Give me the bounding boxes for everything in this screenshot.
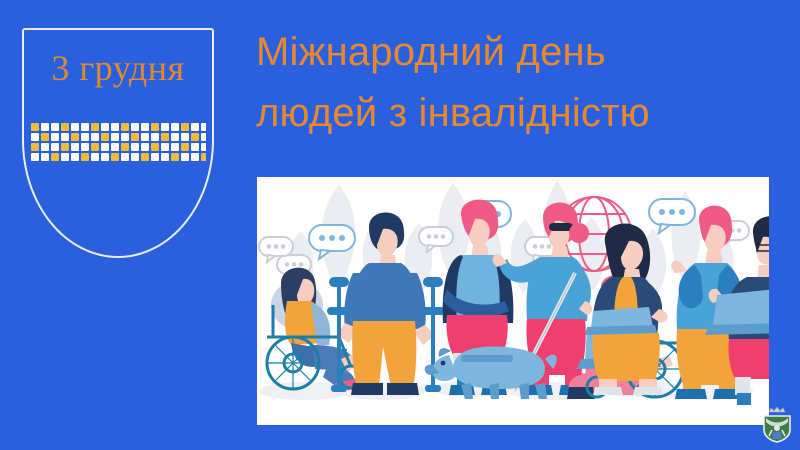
date-label: 3 грудня bbox=[24, 46, 212, 90]
bead bbox=[170, 142, 180, 152]
bead bbox=[200, 132, 206, 142]
bead bbox=[160, 152, 170, 162]
bead bbox=[30, 122, 40, 132]
bead-band-ornament bbox=[30, 122, 206, 162]
slide-canvas: 3 грудня Міжнародний день людей з інвалі… bbox=[0, 0, 800, 450]
bead bbox=[40, 152, 50, 162]
bead bbox=[110, 142, 120, 152]
bead bbox=[130, 132, 140, 142]
bead bbox=[60, 142, 70, 152]
bead bbox=[200, 122, 206, 132]
illustration-panel bbox=[257, 177, 769, 425]
bead bbox=[140, 132, 150, 142]
bead bbox=[30, 132, 40, 142]
bead bbox=[150, 142, 160, 152]
bead bbox=[120, 152, 130, 162]
bead bbox=[130, 142, 140, 152]
bead bbox=[100, 132, 110, 142]
illustration-canvas bbox=[257, 177, 769, 425]
bead bbox=[100, 122, 110, 132]
bead bbox=[70, 122, 80, 132]
bead bbox=[80, 132, 90, 142]
bead bbox=[110, 132, 120, 142]
bead bbox=[180, 142, 190, 152]
bead bbox=[140, 152, 150, 162]
bead bbox=[50, 152, 60, 162]
bead bbox=[140, 122, 150, 132]
coat-of-arms-svg bbox=[760, 406, 794, 444]
shield-badge: 3 грудня bbox=[22, 28, 214, 258]
bead bbox=[90, 152, 100, 162]
bead bbox=[170, 132, 180, 142]
bead bbox=[170, 152, 180, 162]
bead bbox=[150, 132, 160, 142]
bead bbox=[120, 122, 130, 132]
bead bbox=[190, 122, 200, 132]
coat-of-arms-emblem bbox=[760, 406, 794, 444]
bead bbox=[120, 142, 130, 152]
bead bbox=[120, 132, 130, 142]
bead bbox=[140, 142, 150, 152]
tablet bbox=[585, 307, 657, 335]
bead bbox=[30, 152, 40, 162]
page-title: Міжнародний день людей з інвалідністю bbox=[256, 22, 790, 144]
bead bbox=[160, 132, 170, 142]
bead bbox=[80, 122, 90, 132]
bead bbox=[90, 122, 100, 132]
bead bbox=[150, 152, 160, 162]
bead bbox=[80, 142, 90, 152]
bead bbox=[80, 152, 90, 162]
bead bbox=[160, 122, 170, 132]
bead bbox=[130, 152, 140, 162]
bead bbox=[50, 122, 60, 132]
bead bbox=[40, 142, 50, 152]
bead bbox=[70, 142, 80, 152]
bead bbox=[60, 122, 70, 132]
bead bbox=[90, 142, 100, 152]
bead bbox=[150, 122, 160, 132]
title-line-2: людей з інвалідністю bbox=[256, 83, 790, 144]
bead bbox=[60, 132, 70, 142]
bead bbox=[90, 132, 100, 142]
bead bbox=[180, 132, 190, 142]
bead bbox=[190, 152, 200, 162]
bead bbox=[180, 122, 190, 132]
bead bbox=[110, 152, 120, 162]
bead bbox=[180, 152, 190, 162]
bead bbox=[50, 142, 60, 152]
bead-row bbox=[30, 142, 206, 152]
bead bbox=[60, 152, 70, 162]
bead bbox=[100, 152, 110, 162]
bead bbox=[200, 152, 206, 162]
bead bbox=[40, 132, 50, 142]
bead bbox=[160, 142, 170, 152]
bead bbox=[200, 142, 206, 152]
bead bbox=[110, 122, 120, 132]
bead bbox=[190, 132, 200, 142]
title-line-1: Міжнародний день bbox=[256, 22, 790, 83]
bead-row bbox=[30, 132, 206, 142]
bead bbox=[70, 132, 80, 142]
bead bbox=[100, 142, 110, 152]
bead bbox=[130, 122, 140, 132]
bead bbox=[190, 142, 200, 152]
bead-row bbox=[30, 122, 206, 132]
illustration-svg bbox=[257, 177, 769, 425]
bead bbox=[50, 132, 60, 142]
bead bbox=[30, 142, 40, 152]
bead bbox=[40, 122, 50, 132]
bead-row bbox=[30, 152, 206, 162]
bead bbox=[170, 122, 180, 132]
bead bbox=[70, 152, 80, 162]
